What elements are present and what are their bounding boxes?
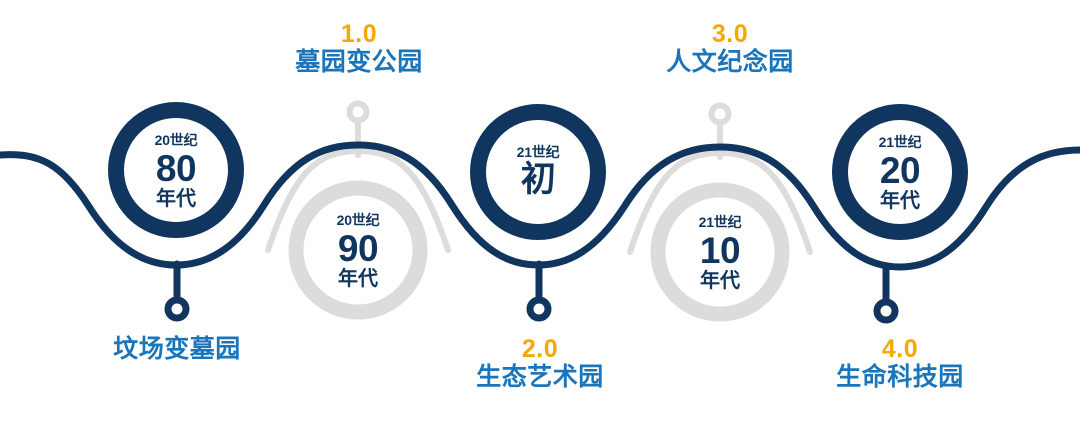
node-suffix-2020s: 年代 bbox=[840, 191, 960, 211]
caption-name-2: 生态艺术园 bbox=[440, 363, 640, 393]
node-era-2020s: 21世纪 bbox=[840, 135, 960, 149]
node-suffix-1980s: 年代 bbox=[116, 189, 236, 209]
caption-stage-2: 2.0 生态艺术园 bbox=[440, 335, 640, 393]
caption-stage-4: 4.0 生命科技园 bbox=[800, 335, 1000, 393]
node-value-2010s: 10 bbox=[660, 232, 780, 269]
pin-navy-3 bbox=[877, 266, 895, 320]
caption-stage-1: 1.0 墓园变公园 bbox=[259, 20, 459, 78]
node-era-1980s: 20世纪 bbox=[116, 133, 236, 147]
node-value-1990s: 90 bbox=[298, 230, 418, 267]
timeline-infographic: 20世纪 80 年代 20世纪 90 年代 21世纪 初 21世纪 10 年代 … bbox=[0, 0, 1080, 422]
caption-name-4: 生命科技园 bbox=[800, 363, 1000, 393]
node-value-2020s: 20 bbox=[840, 152, 960, 189]
caption-stage-0: 坟场变墓园 bbox=[77, 335, 277, 365]
node-label-2020s: 21世纪 20 年代 bbox=[840, 135, 960, 211]
caption-number-1: 1.0 bbox=[259, 20, 459, 48]
node-era-2010s: 21世纪 bbox=[660, 215, 780, 229]
caption-number-3: 3.0 bbox=[630, 20, 830, 48]
caption-name-3: 人文纪念园 bbox=[630, 48, 830, 78]
node-label-1980s: 20世纪 80 年代 bbox=[116, 133, 236, 209]
caption-number-4: 4.0 bbox=[800, 335, 1000, 363]
node-label-2010s: 21世纪 10 年代 bbox=[660, 215, 780, 291]
node-value-1980s: 80 bbox=[116, 150, 236, 187]
node-suffix-2010s: 年代 bbox=[660, 271, 780, 291]
caption-number-2: 2.0 bbox=[440, 335, 640, 363]
node-era-2000s: 21世纪 bbox=[478, 145, 598, 159]
pin-navy-2 bbox=[530, 264, 548, 318]
node-suffix-1990s: 年代 bbox=[298, 269, 418, 289]
pin-navy-1 bbox=[168, 264, 186, 318]
node-era-1990s: 20世纪 bbox=[298, 213, 418, 227]
node-label-1990s: 20世纪 90 年代 bbox=[298, 213, 418, 289]
caption-name-1: 墓园变公园 bbox=[259, 48, 459, 78]
caption-stage-3: 3.0 人文纪念园 bbox=[630, 20, 830, 78]
caption-name-0: 坟场变墓园 bbox=[77, 335, 277, 365]
node-label-2000s: 21世纪 初 bbox=[478, 145, 598, 199]
node-value-2000s: 初 bbox=[478, 162, 598, 197]
